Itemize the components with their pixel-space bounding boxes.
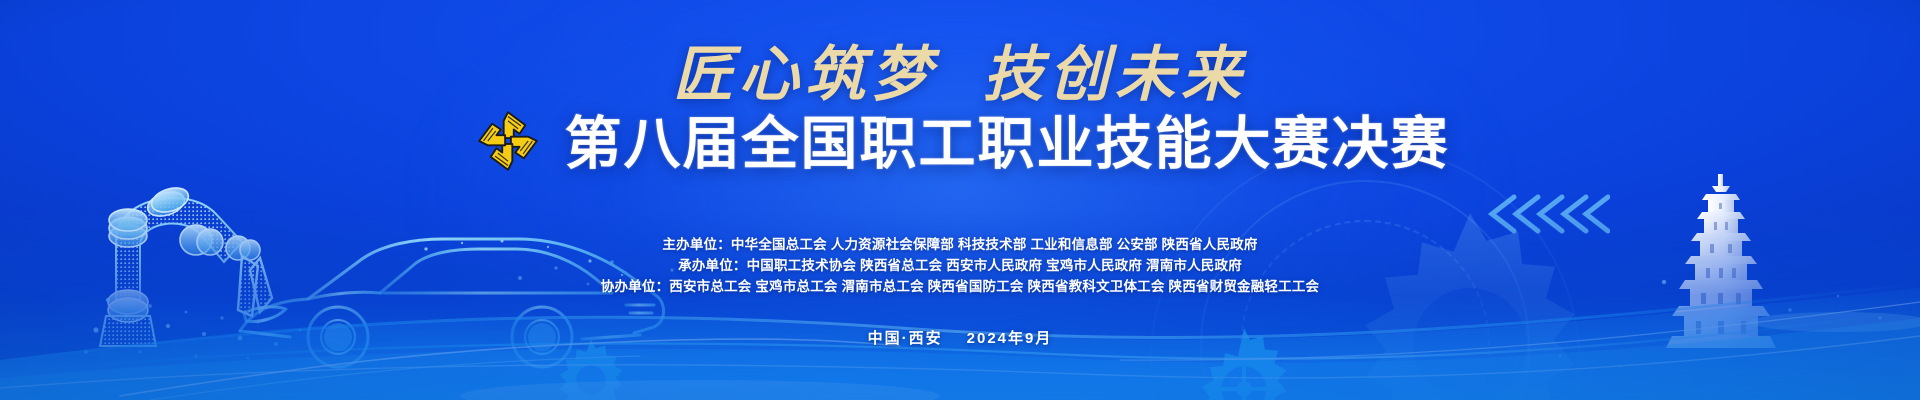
event-location-date: 中国·西安2024年9月 <box>0 327 1920 348</box>
title-row: 第八届全国职工职业技能大赛决赛 <box>0 98 1920 180</box>
page-title: 第八届全国职工职业技能大赛决赛 <box>565 98 1450 180</box>
event-date: 2024年9月 <box>967 330 1053 347</box>
organizer-list: 主办单位：中华全国总工会 人力资源社会保障部 科技技术部 工业和信息部 公安部 … <box>0 234 1920 297</box>
event-banner: 匠心筑梦技创未来 <box>0 0 1920 400</box>
organizer-line-host: 主办单位：中华全国总工会 人力资源社会保障部 科技技术部 工业和信息部 公安部 … <box>0 234 1920 255</box>
organizer-line-undertaker: 承办单位：中国职工技术协会 陕西省总工会 西安市人民政府 宝鸡市人民政府 渭南市… <box>0 255 1920 276</box>
acftu-four-hands-emblem-icon <box>471 105 545 177</box>
event-location: 中国·西安 <box>868 330 943 347</box>
organizer-line-cohost: 协办单位：西安市总工会 宝鸡市总工会 渭南市总工会 陕西省国防工会 陕西省教科文… <box>0 276 1920 297</box>
banner-content: 匠心筑梦技创未来 <box>0 0 1920 400</box>
